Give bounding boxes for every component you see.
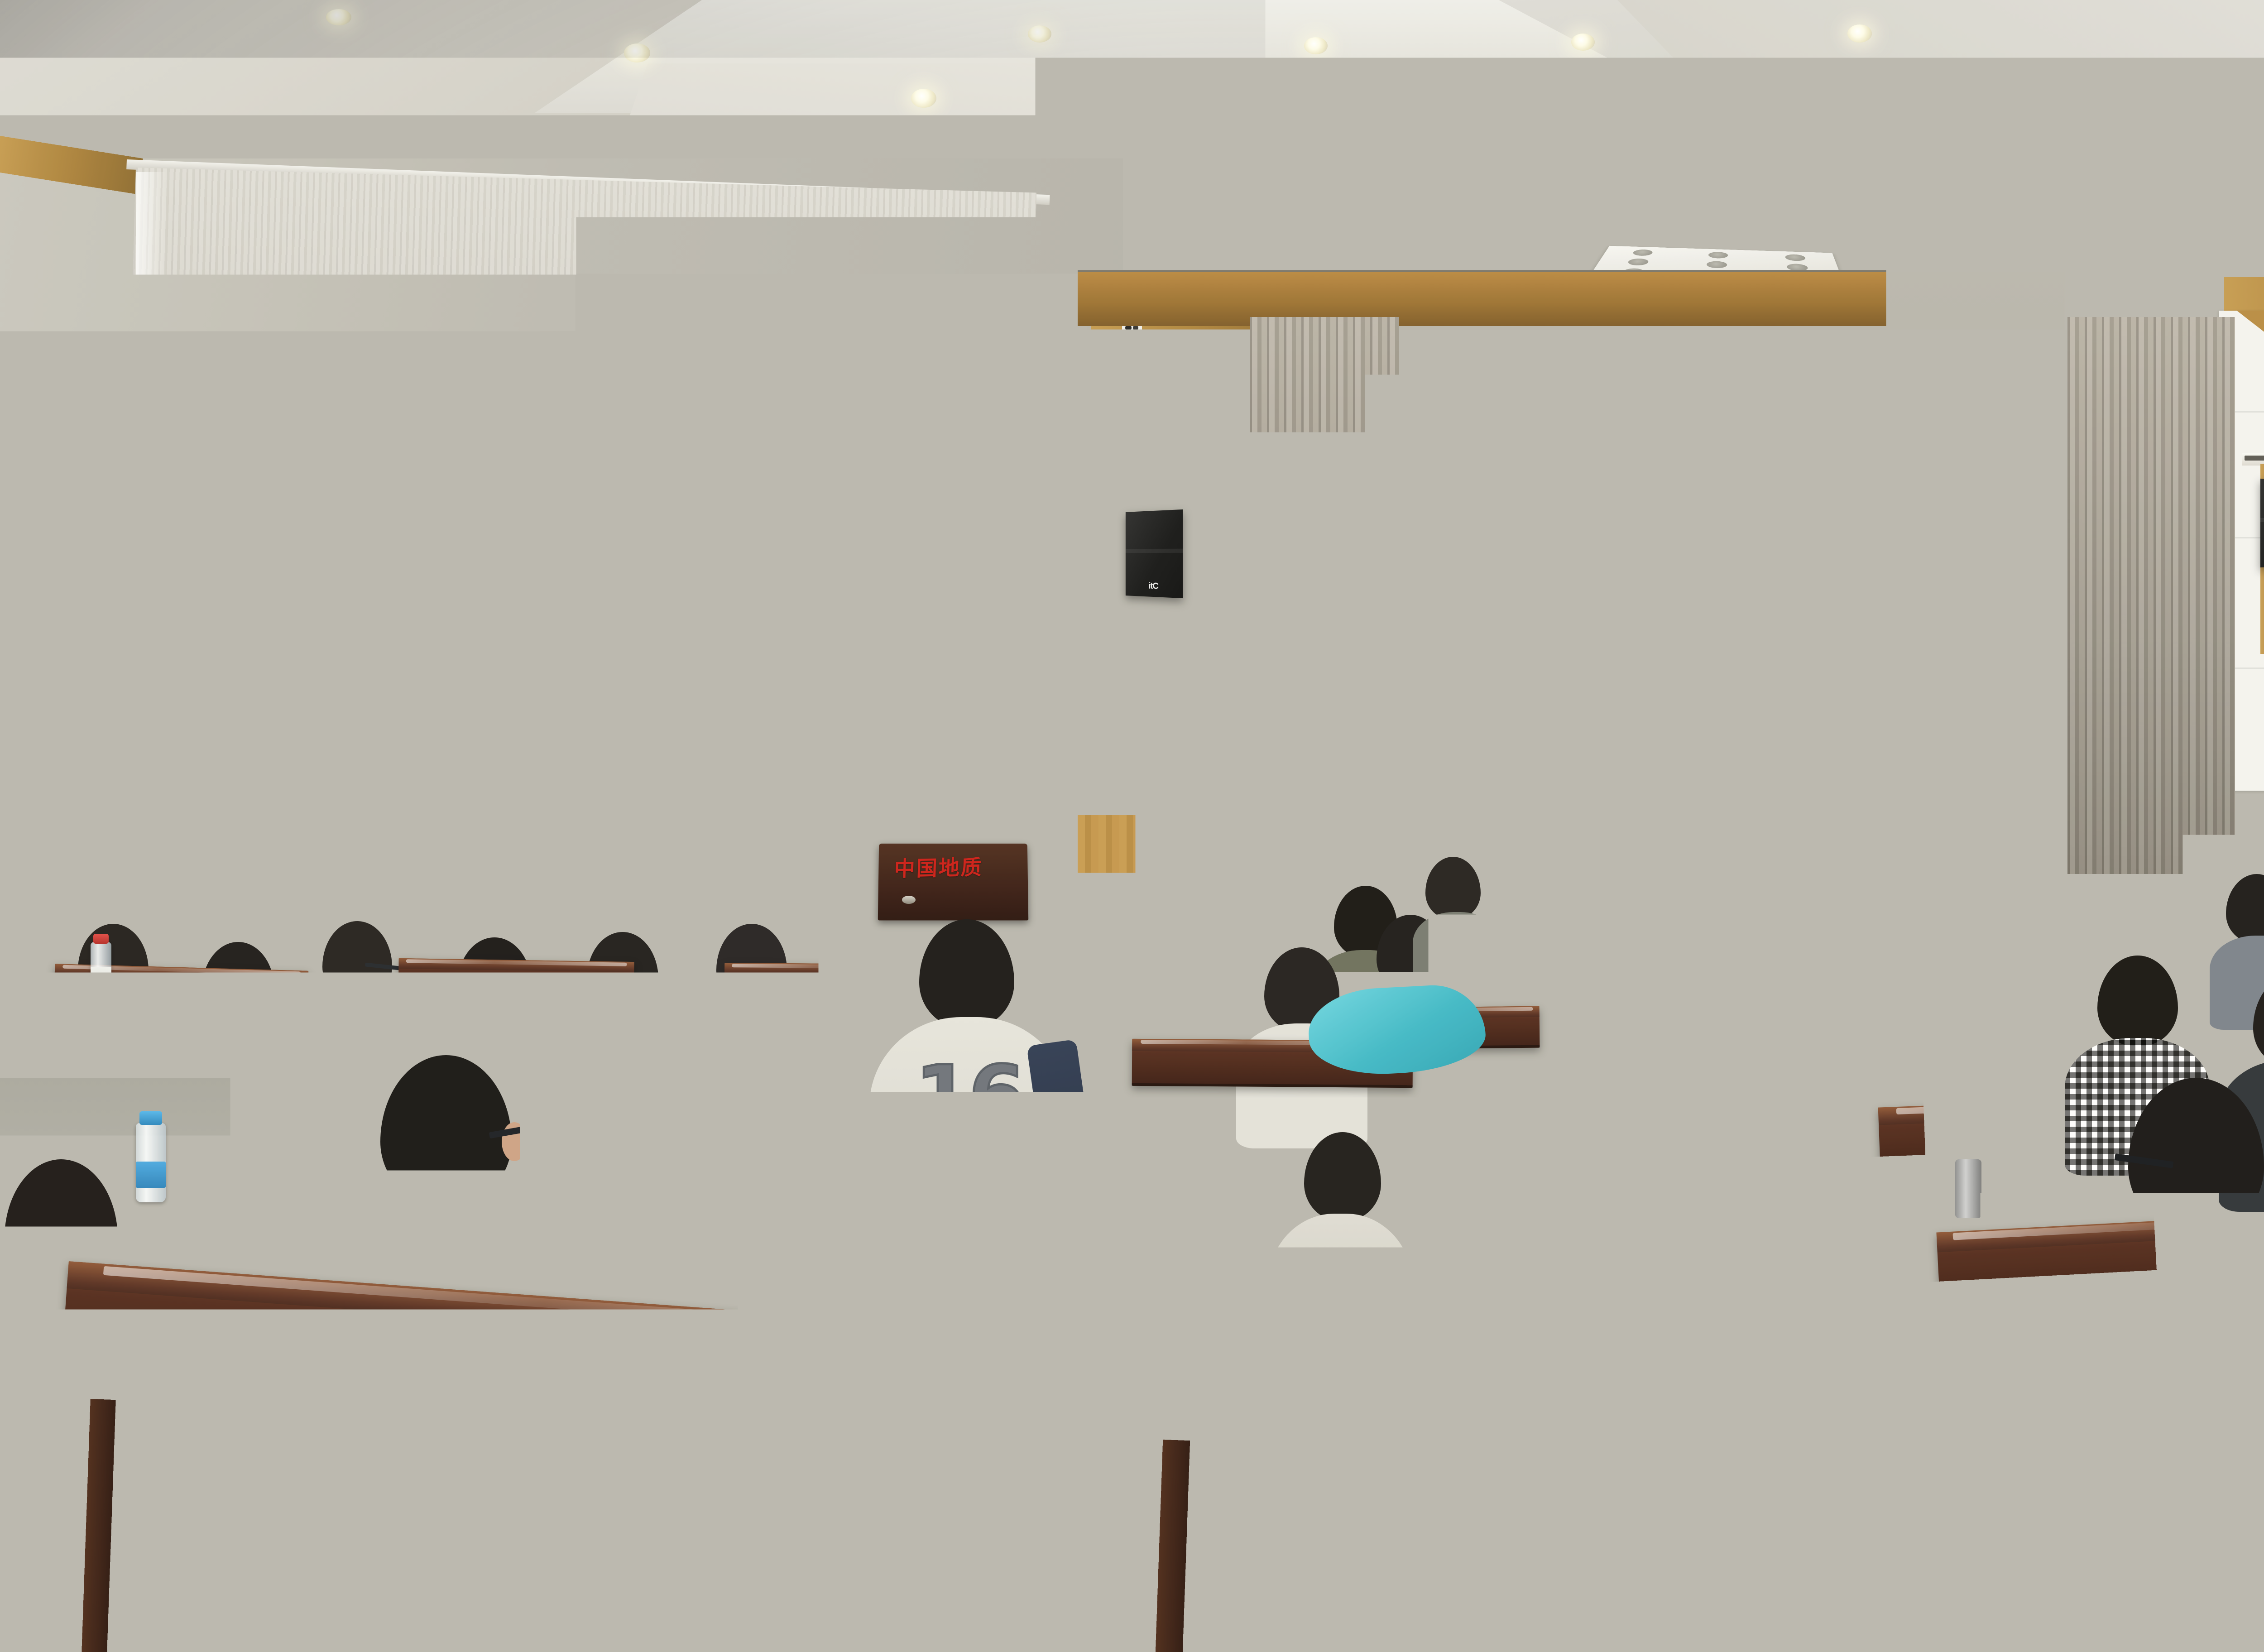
audience-person-r1	[1825, 843, 1915, 979]
curtain-left-highlight	[136, 172, 168, 869]
downlight-10	[1304, 37, 1328, 54]
wall-stripe-upper-left	[0, 752, 136, 759]
downlight-4	[1372, 131, 1396, 149]
slide-photo-strip	[1460, 675, 1750, 738]
audience-person-r2	[2019, 839, 2110, 970]
bottle-cap	[139, 1111, 162, 1125]
wall-stripe-lower-left	[0, 789, 127, 794]
speaker-brand-label-right: itC	[2260, 550, 2264, 562]
head	[1304, 1132, 1381, 1221]
air-conditioner-sticker	[631, 773, 644, 791]
air-conditioner-display	[577, 773, 616, 785]
speaker-left: itC	[1126, 509, 1183, 598]
podium-mic-head-left	[872, 765, 882, 775]
bench-desk-far-l2	[398, 958, 634, 1002]
head	[919, 919, 1014, 1028]
lecture-hall-photo: itC itC	[0, 0, 2264, 1652]
audience-person-n-red	[0, 1159, 163, 1652]
thermos-flask[interactable]	[1955, 1159, 1981, 1218]
downlight-8	[326, 9, 351, 25]
phone-screen	[993, 1389, 1049, 1423]
slide-logo-subtext: University	[1487, 480, 1545, 490]
bench-desk-mid-r1	[1829, 1021, 2083, 1070]
slide-footer: GROUP OF EIGHT	[1460, 781, 1541, 795]
water-bottle-left-small[interactable]	[91, 942, 111, 995]
downlight-1	[624, 43, 650, 62]
bench-knob	[41, 1042, 53, 1052]
speaker-brand-label-left: itC	[1126, 581, 1183, 593]
downlight-12	[1847, 24, 1872, 43]
bottle-label	[91, 967, 111, 985]
audience-person-c8	[1413, 857, 1501, 993]
downlight-7	[2056, 80, 2082, 100]
presenter-hair	[885, 730, 943, 763]
slide-footer-text: GROUP OF EIGHT	[1482, 784, 1541, 792]
presenter-laptop[interactable]	[933, 811, 1005, 842]
podium-mic-head-right	[1014, 792, 1024, 802]
head	[2128, 1078, 2264, 1232]
speaker-right: itC	[2260, 479, 2264, 567]
slide-logo: MONASH University	[1460, 459, 1580, 483]
downlight-3	[1154, 121, 1178, 139]
downlight-6	[1835, 107, 1860, 126]
floor-cable-loop	[1567, 1119, 1621, 1138]
downlight-11	[1571, 34, 1595, 51]
water-bottle-foreground[interactable]	[136, 1123, 166, 1202]
audience-person-m9	[1123, 928, 1254, 1132]
bottle-label	[136, 1162, 166, 1188]
downlight-5	[1610, 114, 1635, 132]
slide-title: Deep Geothermal Energy in Australia : Fi…	[1460, 534, 1786, 675]
air-conditioner-grill	[540, 705, 647, 759]
downlight-9	[1028, 25, 1051, 43]
audience-person-m6	[693, 924, 811, 1109]
head	[380, 1055, 512, 1205]
presentation-slide: MONASH University Deep Geothermal Energy…	[1416, 421, 2037, 815]
papers-on-desk-3	[462, 1185, 522, 1206]
slide-logo-text: MONASH	[1487, 460, 1580, 482]
monash-shield-icon	[1460, 459, 1481, 483]
stage-curtain-right[interactable]	[2067, 317, 2235, 874]
audience-person-n-darkright	[2038, 1078, 2264, 1652]
australia-map-icon	[1460, 781, 1478, 795]
downlight-2	[911, 89, 936, 108]
stage-chair-3[interactable]	[1652, 879, 1738, 947]
audience-person-n-white	[1268, 1132, 1413, 1413]
bottle-cap	[93, 934, 109, 944]
